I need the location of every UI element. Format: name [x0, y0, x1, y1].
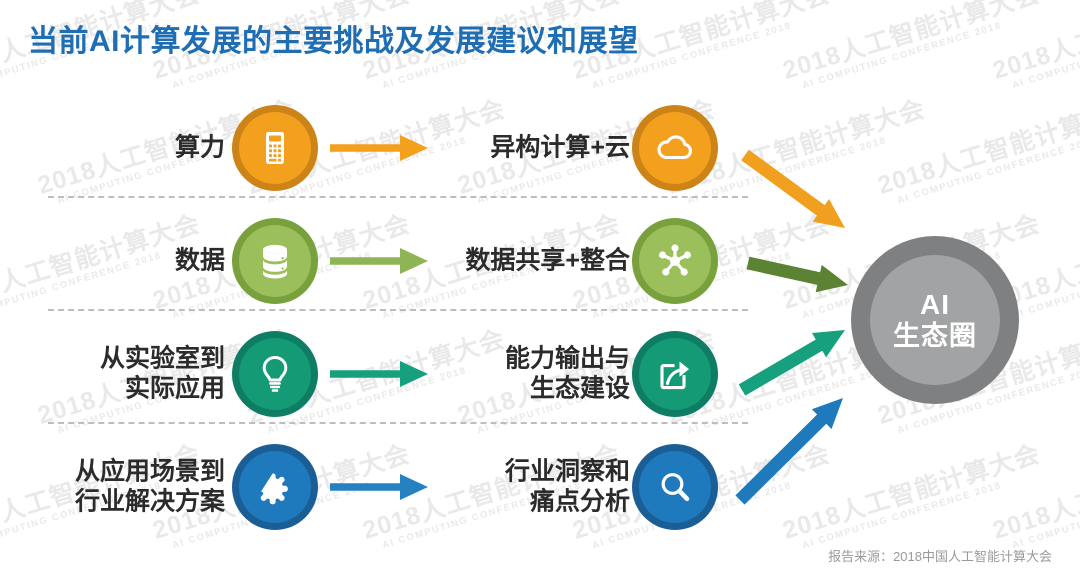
cloud-icon: [639, 112, 711, 184]
watermark-sub: AI COMPUTING CONFERENCE 2018: [896, 123, 1080, 206]
challenge-row: 算力 异构计算+云: [0, 92, 760, 204]
watermark-text: 2018人工智能计算大会AI COMPUTING CONFERENCE 2018: [990, 0, 1080, 95]
watermark-main: 2018人工智能计算大会: [990, 0, 1080, 84]
challenge-label: 从应用场景到行业解决方案: [75, 458, 225, 517]
flow-arrow: [330, 131, 430, 165]
watermark-main: 2018人工智能计算大会: [990, 442, 1080, 544]
watermark-main: 2018人工智能计算大会: [780, 0, 1043, 84]
flow-arrow: [330, 357, 430, 391]
ai-ecosystem-label-en: AI: [920, 289, 950, 320]
watermark-main: 2018人工智能计算大会: [780, 442, 1043, 544]
lightbulb-icon: [239, 338, 311, 410]
watermark-text: 2018人工智能计算大会AI COMPUTING CONFERENCE 2018: [990, 442, 1080, 555]
flow-arrow: [330, 244, 430, 278]
watermark-text: 2018人工智能计算大会AI COMPUTING CONFERENCE 2018: [780, 442, 1047, 555]
watermark-sub: AI COMPUTING CONFERENCE 2018: [801, 468, 1046, 551]
converging-arrow: [747, 257, 848, 293]
solution-label: 行业洞察和痛点分析: [505, 458, 630, 517]
challenge-row: 从应用场景到行业解决方案 行业洞察和痛点分析: [0, 431, 760, 543]
solution-label-box: 数据共享+整合: [425, 205, 630, 317]
challenge-label: 算力: [175, 133, 225, 163]
challenge-icon-badge: [232, 105, 318, 191]
challenge-label: 数据: [175, 246, 225, 276]
challenge-label-line: 算力: [175, 133, 225, 163]
challenge-label: 从实验室到实际应用: [100, 345, 225, 404]
challenge-label-box: 从应用场景到行业解决方案: [20, 431, 225, 543]
puzzle-icon: [239, 451, 311, 523]
watermark-main: 2018人工智能计算大会: [875, 97, 1080, 199]
watermark-text: 2018人工智能计算大会AI COMPUTING CONFERENCE 2018: [780, 0, 1047, 95]
challenge-icon-badge: [232, 444, 318, 530]
challenge-label-line: 从应用场景到: [75, 458, 225, 488]
solution-label-line: 能力输出与: [505, 345, 630, 375]
solution-label-line: 异构计算+云: [490, 133, 630, 163]
watermark-sub: AI COMPUTING CONFERENCE 2018: [1011, 8, 1080, 91]
challenge-label-line: 数据: [175, 246, 225, 276]
solution-label-line: 数据共享+整合: [465, 246, 630, 276]
network-share-icon: [639, 225, 711, 297]
watermark-sub: AI COMPUTING CONFERENCE 2018: [801, 8, 1046, 91]
solution-icon-badge: [632, 331, 718, 417]
solution-label-box: 行业洞察和痛点分析: [425, 431, 630, 543]
solution-label: 数据共享+整合: [465, 246, 630, 276]
solution-label-line: 生态建设: [505, 374, 630, 404]
challenge-row: 数据 数据共享+整合: [0, 205, 760, 317]
challenge-label-line: 实际应用: [100, 374, 225, 404]
watermark-text: 2018人工智能计算大会AI COMPUTING CONFERENCE 2018: [875, 97, 1080, 210]
challenge-icon-badge: [232, 218, 318, 304]
ai-ecosystem-circle: AI 生态圈: [851, 236, 1019, 404]
export-share-icon: [639, 338, 711, 410]
solution-icon-badge: [632, 105, 718, 191]
solution-label-box: 能力输出与生态建设: [425, 318, 630, 430]
solution-icon-badge: [632, 444, 718, 530]
challenge-row: 从实验室到实际应用 能力输出与生态建设: [0, 318, 760, 430]
solution-label-line: 行业洞察和: [505, 458, 630, 488]
challenge-label-box: 算力: [20, 92, 225, 204]
solution-label: 异构计算+云: [490, 133, 630, 163]
report-source-note: 报告来源：2018中国人工智能计算大会: [828, 546, 1052, 565]
ai-ecosystem-inner: AI 生态圈: [870, 255, 1000, 385]
ai-ecosystem-label-cn: 生态圈: [893, 321, 977, 351]
challenge-icon-badge: [232, 331, 318, 417]
solution-icon-badge: [632, 218, 718, 304]
flow-arrow: [330, 470, 430, 504]
watermark-sub: AI COMPUTING CONFERENCE 2018: [1011, 468, 1080, 551]
page-title: 当前AI计算发展的主要挑战及发展建议和展望: [28, 16, 639, 60]
calculator-icon: [239, 112, 311, 184]
watermark-sub: AI COMPUTING CONFERENCE 2018: [1011, 238, 1080, 321]
challenge-label-line: 行业解决方案: [75, 487, 225, 517]
magnifier-icon: [639, 451, 711, 523]
challenge-label-box: 从实验室到实际应用: [20, 318, 225, 430]
solution-label-line: 痛点分析: [505, 487, 630, 517]
slide-canvas: 2018人工智能计算大会AI COMPUTING CONFERENCE 2018…: [0, 0, 1080, 585]
solution-label-box: 异构计算+云: [425, 92, 630, 204]
challenge-label-line: 从实验室到: [100, 345, 225, 375]
challenge-label-box: 数据: [20, 205, 225, 317]
database-icon: [239, 225, 311, 297]
solution-label: 能力输出与生态建设: [505, 345, 630, 404]
